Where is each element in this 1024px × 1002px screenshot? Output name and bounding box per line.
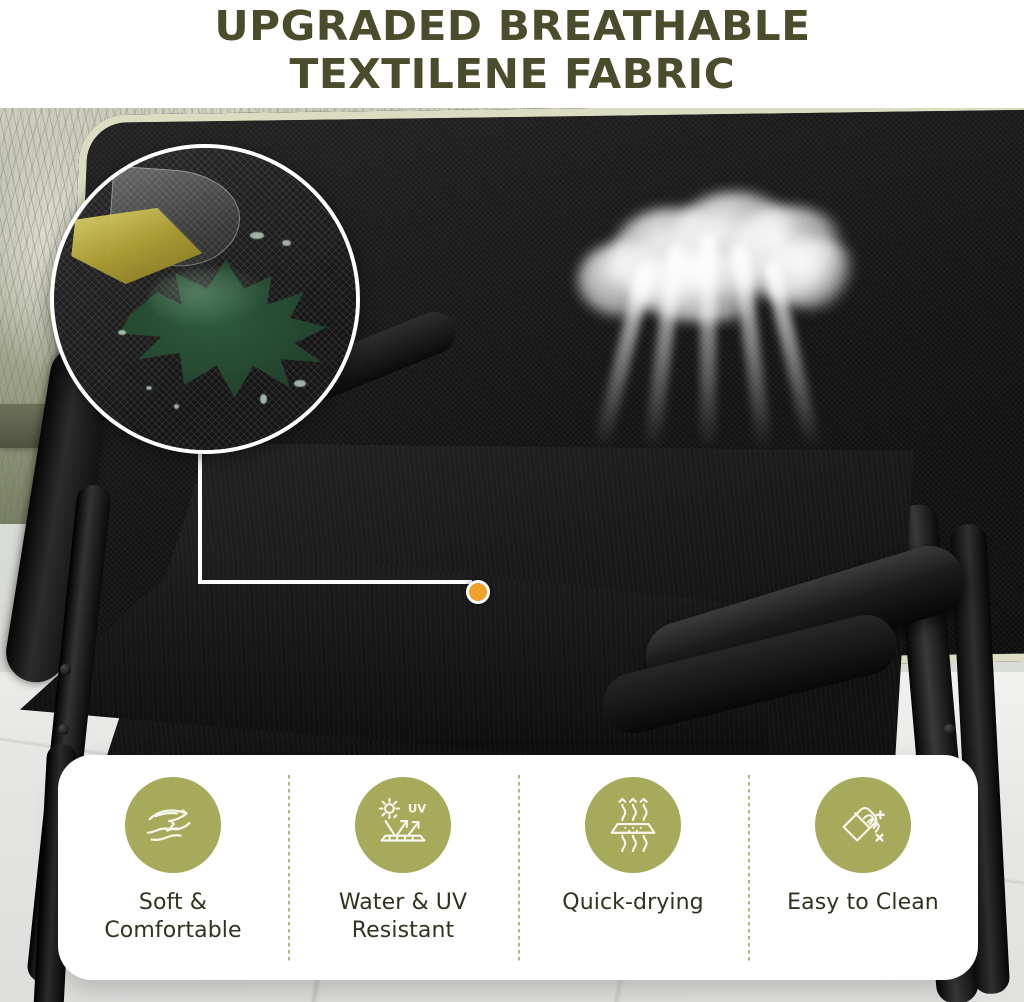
headline-line-1: UPGRADED BREATHABLE xyxy=(214,2,810,50)
feature-item-soft-comfortable[interactable]: Soft &Comfortable xyxy=(58,755,288,980)
uv-badge-text: UV xyxy=(408,801,426,815)
feature-highlight-card: Soft &Comfortable UV xyxy=(58,755,978,980)
feature-item-quick-drying[interactable]: Quick-drying xyxy=(518,755,748,980)
fabric-closeup-magnifier xyxy=(50,144,360,454)
sun-uv-arrows-icon: UV xyxy=(355,777,451,873)
feature-label: Soft &Comfortable xyxy=(98,889,247,945)
headline-line-2: TEXTILENE FABRIC xyxy=(289,50,735,98)
frame-rivet xyxy=(944,724,955,735)
feature-label: Quick-drying xyxy=(556,889,709,917)
hand-feather-icon xyxy=(125,777,221,873)
feature-label: Easy to Clean xyxy=(781,889,945,917)
spill-highlight xyxy=(149,268,269,328)
fabric-hotspot[interactable] xyxy=(466,580,490,604)
feature-item-water-uv-resistant[interactable]: UV Water & UVResistant xyxy=(288,755,518,980)
headline-block: UPGRADED BREATHABLE TEXTILENE FABRIC xyxy=(0,0,1024,108)
sponge-sparkle-icon xyxy=(815,777,911,873)
feature-item-easy-to-clean[interactable]: Easy to Clean xyxy=(748,755,978,980)
airflow-fabric-icon xyxy=(585,777,681,873)
feature-label: Water & UVResistant xyxy=(333,889,473,945)
infographic-root: UPGRADED BREATHABLE TEXTILENE FABRIC xyxy=(0,0,1024,1002)
frame-rivet xyxy=(58,724,69,735)
frame-rivet xyxy=(60,664,71,675)
